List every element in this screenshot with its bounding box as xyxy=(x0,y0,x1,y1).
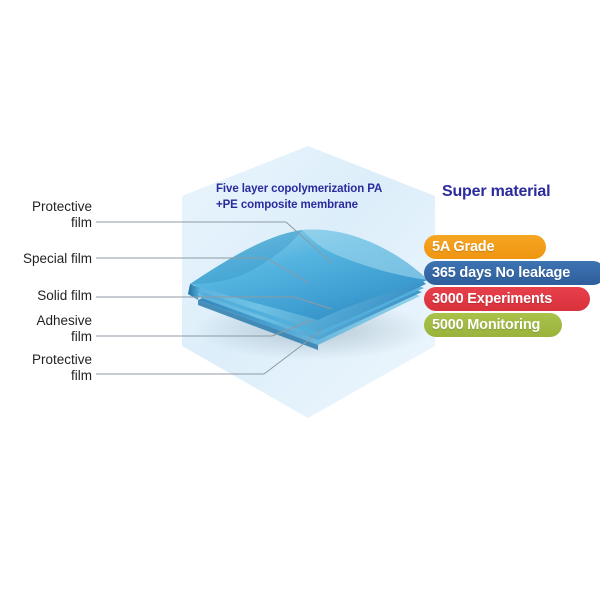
sheet-shadow xyxy=(194,300,430,360)
badge-no-leakage-label: 365 days No leakage xyxy=(432,261,570,285)
product-infographic: Five layer copolymerization PA +PE compo… xyxy=(0,0,600,600)
callout-lines xyxy=(96,222,332,374)
badge-experiments-label: 3000 Experiments xyxy=(432,287,552,311)
badge-monitoring: 5000 Monitoring xyxy=(424,313,562,337)
layer-solid xyxy=(194,244,424,336)
badge-no-leakage: 365 days No leakage xyxy=(424,261,600,285)
layer-protective-bottom xyxy=(198,253,420,345)
callout-label-solid-film: Solid film xyxy=(0,288,92,304)
layer-adhesive xyxy=(196,248,422,340)
membrane-title: Five layer copolymerization PA +PE compo… xyxy=(216,182,426,213)
badge-grade-label: 5A Grade xyxy=(432,235,494,259)
callout-label-protective-film-top: Protective film xyxy=(0,199,92,231)
layer-bottom-edge xyxy=(198,300,318,350)
callout-label-protective-film-bottom: Protective film xyxy=(0,352,92,384)
layer-special xyxy=(192,238,426,332)
badge-experiments: 3000 Experiments xyxy=(424,287,590,311)
super-material-title: Super material xyxy=(442,183,550,201)
callout-label-special-film: Special film xyxy=(0,251,92,267)
callout-label-adhesive-film: Adhesive film xyxy=(0,313,92,345)
sheet-crest-highlight xyxy=(302,229,428,280)
sheet-fold-shade xyxy=(190,230,302,284)
layer-protective-top xyxy=(190,229,428,320)
badge-monitoring-label: 5000 Monitoring xyxy=(432,313,540,337)
badge-grade: 5A Grade xyxy=(424,235,546,259)
sheet-left-corner xyxy=(188,284,200,300)
